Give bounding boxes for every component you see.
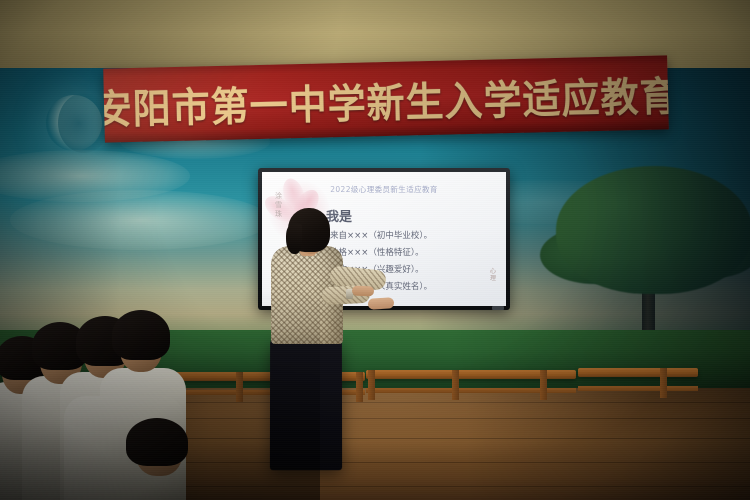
bench-seat[interactable] bbox=[578, 368, 698, 377]
slide-line: 性格×××（性格特征）。 bbox=[330, 245, 488, 262]
bench-leg bbox=[452, 370, 459, 400]
screen-brand-logo bbox=[492, 306, 504, 310]
presenter-pointing-hand bbox=[368, 297, 395, 310]
bench-rail bbox=[578, 386, 698, 391]
slide-heading: 我是 bbox=[326, 206, 352, 225]
bench-leg bbox=[660, 368, 667, 398]
bench-leg bbox=[236, 372, 243, 402]
bench-leg bbox=[356, 372, 363, 402]
presenter-skirt bbox=[270, 338, 342, 470]
presenter-hand bbox=[352, 286, 374, 297]
bench-leg bbox=[540, 370, 547, 400]
event-banner: 安阳市第一中学新生入学适应教育 bbox=[103, 55, 669, 142]
slide-stamp-label: 心理 bbox=[488, 268, 498, 282]
student-hair bbox=[126, 418, 188, 466]
slide-vertical-label: 涂雪珠 bbox=[272, 192, 285, 219]
slide-line: 来自×××（初中毕业校）。 bbox=[330, 228, 488, 245]
presenter-hair-side bbox=[286, 224, 302, 254]
bench-leg bbox=[368, 370, 375, 400]
student-hair bbox=[112, 310, 170, 360]
banner-title: 安阳市第一中学新生入学适应教育 bbox=[103, 63, 669, 135]
photo-scene: 安阳市第一中学新生入学适应教育 涂雪珠 2022级心理委员新生适应教育 我是 bbox=[0, 0, 750, 500]
slide-title: 2022级心理委员新生适应教育 bbox=[262, 184, 506, 195]
